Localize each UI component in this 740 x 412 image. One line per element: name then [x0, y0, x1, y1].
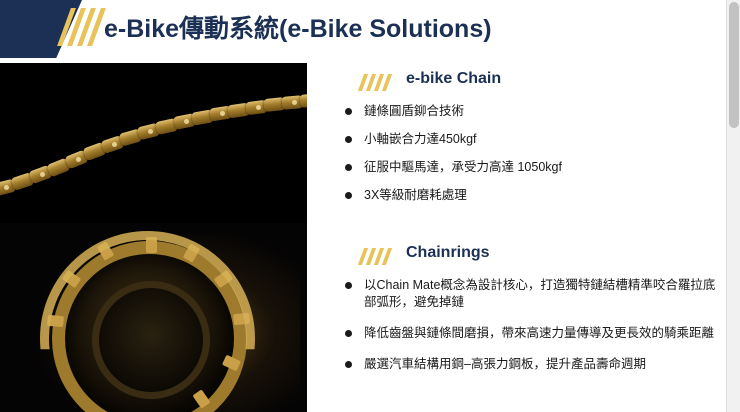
list-item: 征服中驅馬達，承受力高達 1050kgf	[333, 159, 723, 176]
list-item: 嚴選汽車結構用鋼–高張力鋼板，提升產品壽命週期	[333, 356, 723, 373]
bullet-list: 以Chain Mate概念為設計核心，打造獨特鏈結槽精準咬合羅拉底部弧形，避免掉…	[333, 277, 723, 373]
chainring-spider	[92, 281, 210, 399]
section-title: e-bike Chain	[406, 70, 501, 88]
chain-artwork	[0, 85, 307, 203]
list-item: 降低齒盤與鏈條間磨損，帶來高速力量傳導及更長效的騎乘距離	[333, 325, 723, 342]
list-item: 3X等級耐磨耗處理	[333, 187, 723, 204]
list-item: 鏈條圓盾鉚合技術	[333, 103, 723, 120]
page-title: e-Bike傳動系統(e-Bike Solutions)	[104, 9, 492, 45]
section-title: Chainrings	[406, 244, 490, 262]
bullet-list: 鏈條圓盾鉚合技術 小軸嵌合力達450kgf 征服中驅馬達，承受力高達 1050k…	[333, 103, 723, 204]
vertical-scrollbar[interactable]	[726, 0, 740, 412]
list-item: 以Chain Mate概念為設計核心，打造獨特鏈結槽精準咬合羅拉底部弧形，避免掉…	[333, 277, 723, 311]
image-column	[0, 63, 307, 412]
section-heading: e-bike Chain	[333, 71, 723, 95]
section-ebike-chain: e-bike Chain 鏈條圓盾鉚合技術 小軸嵌合力達450kgf 征服中驅馬…	[333, 71, 723, 215]
content-column: e-bike Chain 鏈條圓盾鉚合技術 小軸嵌合力達450kgf 征服中驅馬…	[333, 63, 723, 412]
gold-slashes-icon	[361, 74, 399, 92]
section-chainrings: Chainrings 以Chain Mate概念為設計核心，打造獨特鏈結槽精準咬…	[333, 245, 723, 387]
list-item: 小軸嵌合力達450kgf	[333, 131, 723, 148]
bicycle-chain-photo	[0, 63, 307, 223]
slide-header: e-Bike傳動系統(e-Bike Solutions)	[0, 0, 726, 58]
chainring-photo	[0, 223, 307, 412]
section-heading: Chainrings	[333, 245, 723, 269]
scrollbar-thumb[interactable]	[729, 2, 739, 128]
slide-canvas: e-Bike傳動系統(e-Bike Solutions)	[0, 0, 726, 412]
gold-slashes-icon	[361, 248, 399, 266]
